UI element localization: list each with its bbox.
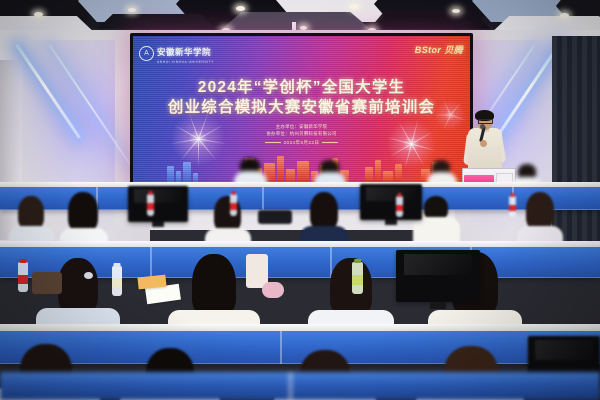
ceiling-downlight bbox=[560, 13, 569, 18]
computer-monitor bbox=[396, 250, 480, 302]
pink-pouch bbox=[262, 282, 284, 298]
water-bottle bbox=[396, 196, 403, 217]
monitor-stand bbox=[385, 220, 397, 225]
desk-surface-3 bbox=[0, 324, 600, 331]
desk-row-3 bbox=[0, 330, 600, 364]
handbag bbox=[32, 272, 62, 294]
ceiling-downlight bbox=[236, 6, 245, 11]
microphone-head bbox=[480, 124, 485, 129]
jacket-on-desk bbox=[258, 210, 292, 224]
desk-surface-1 bbox=[0, 182, 600, 187]
classroom-photo: A 安徽新华学院 ANHUI XINHUA UNIVERSITY BStor 贝… bbox=[0, 0, 600, 400]
monitor-stand bbox=[152, 222, 164, 227]
speaker-torso bbox=[468, 128, 502, 172]
ceiling-downlight bbox=[350, 4, 359, 9]
ceiling-downlight bbox=[128, 8, 136, 12]
speaker-glasses bbox=[478, 119, 493, 124]
monitor-stand bbox=[430, 302, 446, 309]
water-bottle bbox=[112, 266, 122, 296]
water-bottle bbox=[147, 194, 154, 216]
ceiling-downlight bbox=[452, 9, 460, 13]
water-bottle bbox=[509, 196, 516, 217]
computer-monitor bbox=[128, 186, 188, 222]
desk-surface-2 bbox=[0, 241, 600, 247]
speaker-hand bbox=[480, 140, 487, 147]
hair-clip bbox=[84, 272, 93, 279]
led-screen-bezel bbox=[130, 33, 473, 187]
water-bottle-green-tea bbox=[352, 262, 363, 294]
water-bottle bbox=[230, 194, 237, 216]
water-bottle bbox=[18, 262, 28, 292]
computer-monitor bbox=[360, 184, 422, 220]
ceiling-downlight bbox=[34, 12, 43, 17]
desk-row-4 bbox=[0, 372, 600, 400]
